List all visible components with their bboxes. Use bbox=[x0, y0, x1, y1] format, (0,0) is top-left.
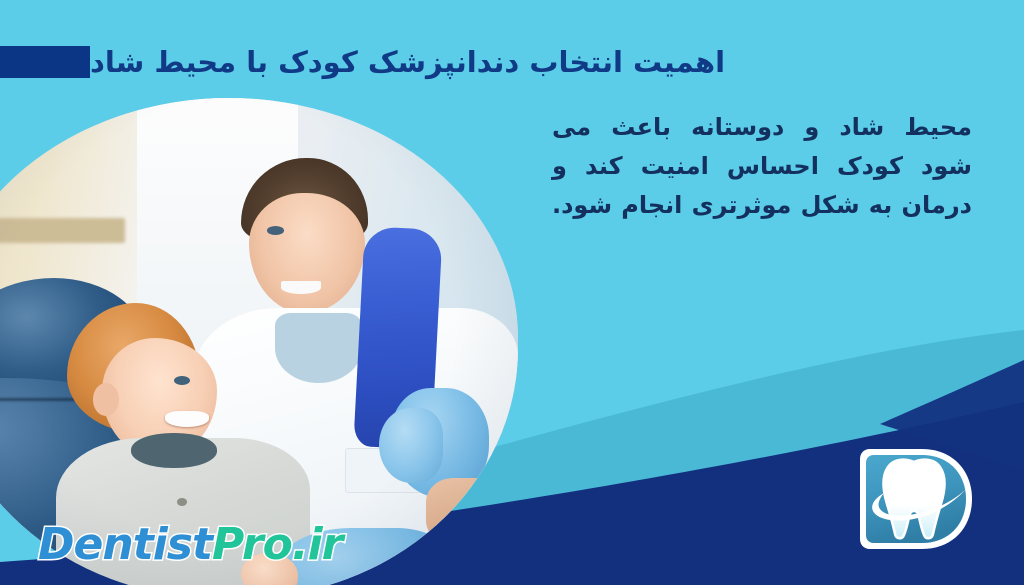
brand-logo bbox=[854, 435, 982, 563]
watermark-dentist: Dentist bbox=[38, 519, 212, 570]
hero-photo bbox=[0, 98, 518, 585]
banner-root: اهمیت انتخاب دندانپزشک کودک با محیط شاد … bbox=[0, 0, 1024, 585]
hero-photo-image bbox=[0, 98, 518, 585]
headline-accent-bar bbox=[0, 46, 90, 78]
body-copy: محیط شاد و دوستانه باعث می شود کودک احسا… bbox=[552, 108, 972, 225]
headline-row: اهمیت انتخاب دندانپزشک کودک با محیط شاد bbox=[0, 36, 1024, 88]
watermark-proir: Pro.ir bbox=[212, 519, 342, 570]
site-watermark: DentistPro.ir bbox=[38, 523, 342, 567]
photo-vignette bbox=[0, 98, 518, 585]
page-title: اهمیت انتخاب دندانپزشک کودک با محیط شاد bbox=[90, 44, 741, 80]
body-paragraph: محیط شاد و دوستانه باعث می شود کودک احسا… bbox=[552, 108, 972, 225]
